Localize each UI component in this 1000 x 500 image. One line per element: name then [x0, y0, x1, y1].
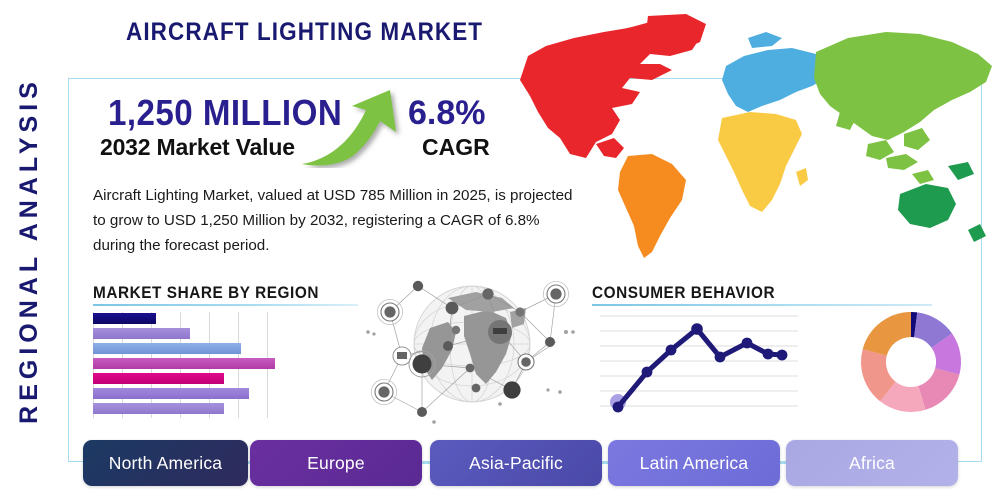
donut-segment — [918, 368, 959, 410]
market-share-bar-chart — [93, 312, 283, 418]
market-share-header-rule — [93, 304, 358, 306]
global-network-globe-icon — [360, 272, 588, 424]
sidebar-item-europe[interactable]: Europe — [250, 440, 422, 486]
donut-segment — [863, 312, 911, 356]
cagr-figure: 6.8% — [408, 94, 486, 133]
region-tab-label: Latin America — [640, 453, 749, 474]
map-region-australia — [898, 162, 986, 242]
sidebar-item-africa[interactable]: Africa — [786, 440, 958, 486]
table-row — [93, 313, 156, 324]
regional-share-donut-chart — [855, 308, 967, 416]
table-row — [93, 403, 224, 414]
region-tab-label: Africa — [849, 453, 895, 474]
sidebar-item-latin-america[interactable]: Latin America — [608, 440, 780, 486]
cagr-label: CAGR — [422, 134, 490, 161]
consumer-behavior-header-rule — [592, 304, 932, 306]
table-row — [93, 343, 241, 354]
region-tab-label: North America — [109, 453, 222, 474]
table-row — [93, 358, 275, 369]
region-tab-label: Europe — [307, 453, 365, 474]
market-share-section-header: MARKET SHARE BY REGION — [93, 284, 319, 303]
regional-analysis-side-label: REGIONAL ANALYSIS — [0, 0, 60, 500]
map-region-africa — [718, 112, 808, 212]
map-region-asia — [814, 32, 992, 160]
page-title: AIRCRAFT LIGHTING MARKET — [126, 18, 483, 47]
market-value-label: 2032 Market Value — [100, 134, 295, 161]
table-row — [93, 388, 249, 399]
table-row — [93, 328, 190, 339]
line-chart-series — [618, 329, 782, 407]
side-label-text: REGIONAL ANALYSIS — [15, 77, 44, 424]
sidebar-item-north-america[interactable]: North America — [83, 440, 248, 486]
map-region-europe — [722, 32, 830, 112]
kpi-block: 1,250 MILLION 2032 Market Value 6.8% CAG… — [100, 92, 500, 170]
map-region-south-america — [618, 154, 686, 258]
region-tabs: North America Europe Asia-Pacific Latin … — [78, 440, 988, 490]
map-region-southeast-asia — [886, 154, 934, 184]
world-map-graphic — [500, 8, 1000, 270]
table-row — [93, 373, 224, 384]
consumer-behavior-line-chart — [600, 310, 798, 418]
consumer-behavior-section-header: CONSUMER BEHAVIOR — [592, 284, 775, 303]
sidebar-item-asia-pacific[interactable]: Asia-Pacific — [430, 440, 602, 486]
growth-arrow-up-icon — [296, 88, 408, 168]
map-region-central-america — [596, 138, 624, 158]
region-tab-label: Asia-Pacific — [469, 453, 563, 474]
